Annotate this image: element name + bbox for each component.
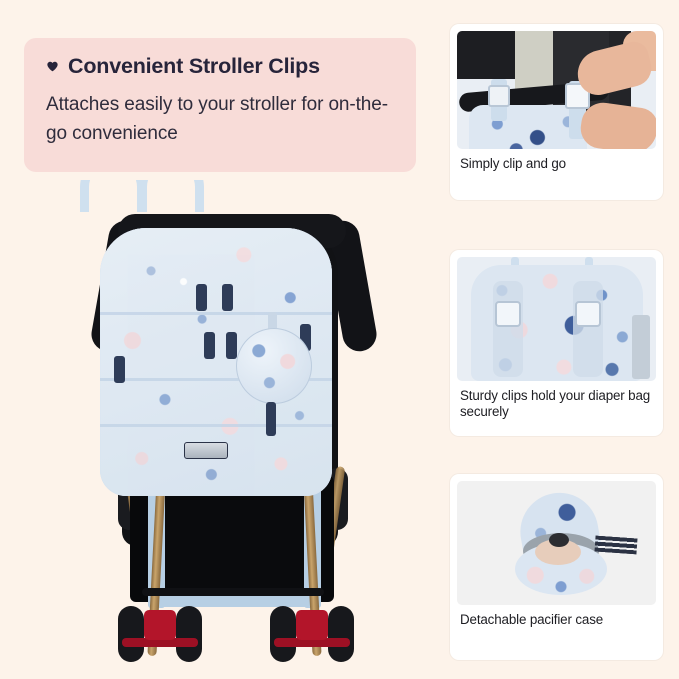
stroller-clip-left	[495, 301, 521, 327]
bag-side-edge	[632, 315, 650, 379]
heart-icon	[46, 60, 59, 73]
feature-photo-clip-and-go	[457, 31, 656, 149]
shoulder-strap-right	[573, 281, 603, 377]
zipper-pull	[114, 356, 125, 383]
wheel-hub	[296, 610, 328, 640]
bag-seam	[100, 424, 332, 427]
tire	[176, 606, 202, 662]
pacifier-pouch	[236, 328, 312, 404]
bag-top-handle-right	[138, 180, 204, 212]
tire	[118, 606, 144, 662]
hero-product-photo	[26, 180, 438, 679]
feature-card-pacifier-case: Detachable pacifier case	[450, 474, 663, 660]
wheel-hub	[144, 610, 176, 640]
product-feature-graphic: Convenient Stroller Clips Attaches easil…	[0, 0, 679, 679]
callout-title: Convenient Stroller Clips	[68, 54, 320, 79]
stroller-clip-right	[575, 301, 601, 327]
feature-card-caption: Simply clip and go	[457, 149, 656, 172]
zipper-pull	[222, 284, 233, 311]
zipper-pull	[196, 284, 207, 311]
feature-card-sturdy-clips: Sturdy clips hold your diaper bag secure…	[450, 250, 663, 436]
feature-card-caption: Detachable pacifier case	[457, 605, 656, 628]
stroller-frame-dark	[457, 31, 519, 79]
callout-title-row: Convenient Stroller Clips	[46, 54, 394, 79]
stroller-front-wheel-left	[118, 600, 202, 666]
brand-nameplate	[184, 442, 228, 459]
pacifier-nipple	[549, 533, 569, 547]
bag-top-handle-left	[80, 180, 146, 212]
tire	[270, 606, 296, 662]
feature-photo-pacifier-case	[457, 481, 656, 605]
hand-lower	[578, 100, 656, 149]
bag-seam	[100, 312, 332, 315]
stroller-crossbar	[142, 588, 324, 596]
stroller-basket	[150, 500, 318, 592]
tire	[328, 606, 354, 662]
feature-card-clip-and-go: Simply clip and go	[450, 24, 663, 200]
shoulder-strap-left	[493, 281, 523, 377]
stroller-clip	[488, 85, 510, 107]
zipper-pull	[204, 332, 215, 359]
feature-callout: Convenient Stroller Clips Attaches easil…	[24, 38, 416, 172]
feature-photo-sturdy-clips	[457, 257, 656, 381]
straw-bundle	[594, 536, 637, 555]
pacifier-pouch-zipper-pull	[266, 402, 276, 436]
callout-subtitle: Attaches easily to your stroller for on-…	[46, 90, 394, 149]
feature-card-caption: Sturdy clips hold your diaper bag secure…	[457, 381, 656, 420]
stroller-front-wheel-right	[270, 600, 354, 666]
